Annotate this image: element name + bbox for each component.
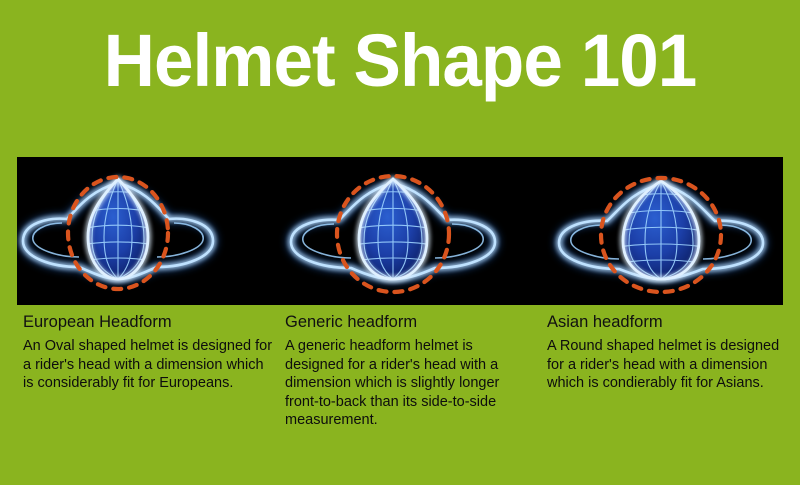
caption-column-asian: Asian headform A Round shaped helmet is …: [547, 312, 787, 393]
headform-panel-asian: [533, 157, 783, 305]
caption-body-asian: A Round shaped helmet is designed for a …: [547, 337, 787, 393]
caption-column-european: European Headform An Oval shaped helmet …: [23, 312, 273, 393]
poster-root: Helmet Shape 101: [0, 0, 800, 485]
caption-body-european: An Oval shaped helmet is designed for a …: [23, 337, 273, 393]
page-title: Helmet Shape 101: [16, 18, 784, 104]
caption-body-generic: A generic headform helmet is designed fo…: [285, 337, 535, 430]
headform-image-strip: [17, 157, 783, 305]
caption-heading-asian: Asian headform: [547, 312, 787, 332]
caption-heading-european: European Headform: [23, 312, 273, 332]
caption-heading-generic: Generic headform: [285, 312, 535, 332]
asian-headform-wireframe: [533, 157, 783, 305]
caption-column-generic: Generic headform A generic headform helm…: [285, 312, 535, 430]
headform-panel-generic: [275, 157, 530, 305]
european-headform-wireframe: [17, 157, 272, 305]
generic-headform-wireframe: [275, 157, 530, 305]
headform-panel-european: [17, 157, 272, 305]
